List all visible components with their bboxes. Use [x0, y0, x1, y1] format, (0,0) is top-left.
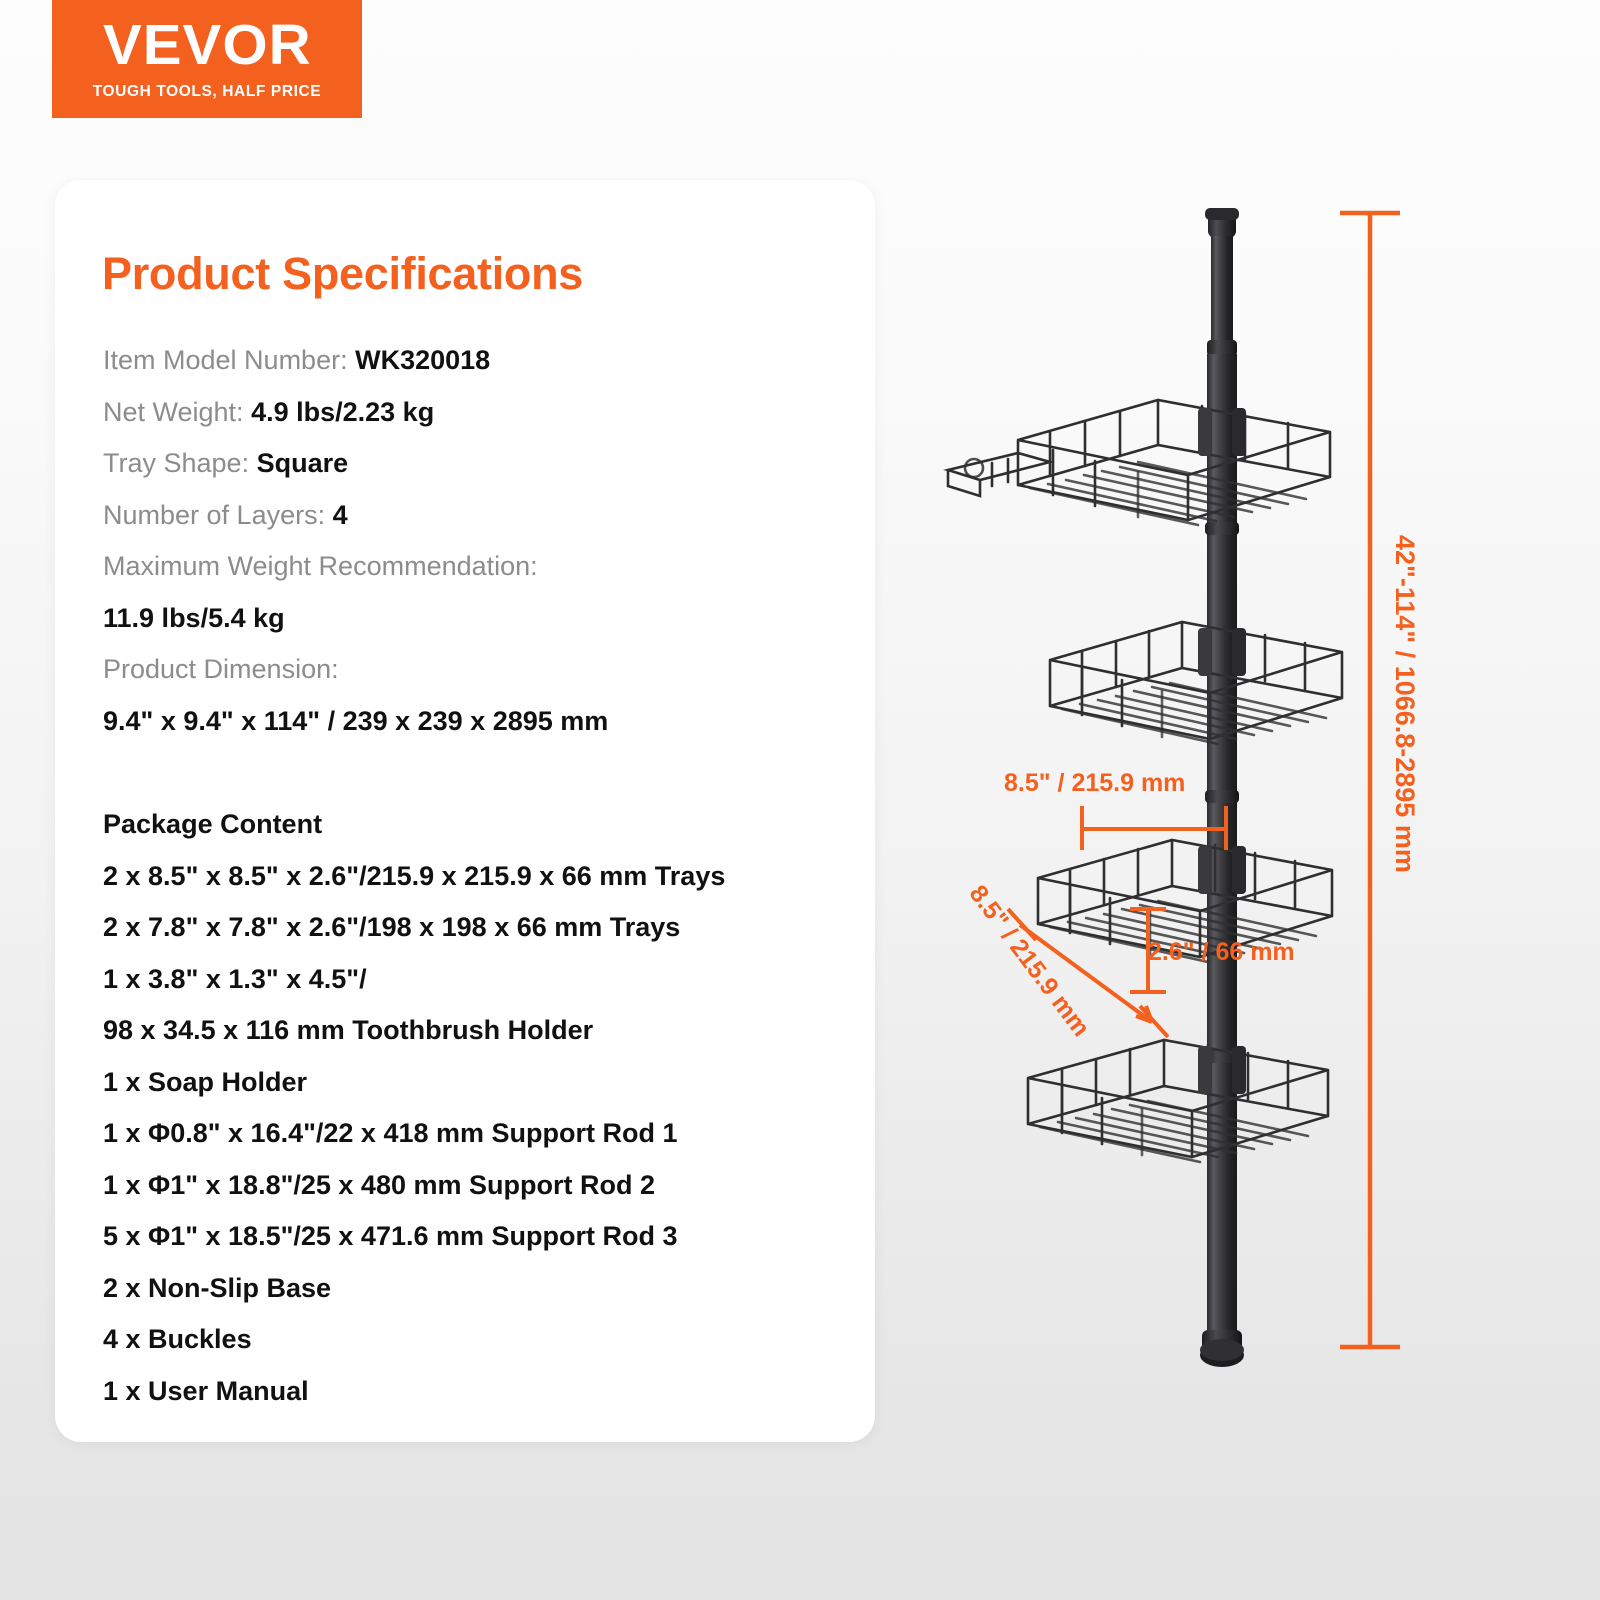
package-item: 2 x Non-Slip Base	[103, 1263, 855, 1315]
spec-list: Item Model Number: WK320018 Net Weight: …	[103, 335, 855, 1417]
spec-value: Square	[257, 448, 349, 478]
vevor-logo: VEVOR TOUGH TOOLS, HALF PRICE	[52, 0, 362, 118]
spec-label-max-weight: Maximum Weight Recommendation:	[103, 541, 855, 593]
product-specifications-card: Product Specifications Item Model Number…	[55, 180, 875, 1442]
spec-label-product-dimension: Product Dimension:	[103, 644, 855, 696]
brand-tagline: TOUGH TOOLS, HALF PRICE	[93, 83, 322, 101]
package-item: 2 x 8.5" x 8.5" x 2.6"/215.9 x 215.9 x 6…	[103, 851, 855, 903]
package-item: 4 x Buckles	[103, 1314, 855, 1366]
package-content-heading: Package Content	[103, 799, 855, 851]
spec-value: 4.9 lbs/2.23 kg	[251, 397, 434, 427]
dimension-label-width: 8.5" / 215.9 mm	[1004, 769, 1185, 798]
brand-wordmark: VEVOR	[103, 17, 312, 74]
spec-value-product-dimension: 9.4" x 9.4" x 114" / 239 x 239 x 2895 mm	[103, 696, 855, 748]
package-item: 1 x Φ0.8" x 16.4"/22 x 418 mm Support Ro…	[103, 1108, 855, 1160]
spec-label: Item Model Number:	[103, 345, 355, 375]
dimension-lines	[1008, 806, 1226, 1037]
package-item: 98 x 34.5 x 116 mm Toothbrush Holder	[103, 1005, 855, 1057]
basket-tier-1	[948, 400, 1330, 525]
section-spacer	[103, 747, 855, 799]
spec-value: 4	[333, 500, 348, 530]
package-item: 1 x Soap Holder	[103, 1057, 855, 1109]
spec-label: Net Weight:	[103, 397, 251, 427]
spec-value: WK320018	[355, 345, 490, 375]
spec-row-item-model-number: Item Model Number: WK320018	[103, 335, 855, 387]
spec-row-number-of-layers: Number of Layers: 4	[103, 490, 855, 542]
dimension-label-total-height: 42"-114" / 1066.8-2895 mm	[1389, 535, 1420, 873]
package-item: 1 x User Manual	[103, 1366, 855, 1418]
spec-label: Tray Shape:	[103, 448, 257, 478]
package-item: 2 x 7.8" x 7.8" x 2.6"/198 x 198 x 66 mm…	[103, 902, 855, 954]
package-item: 1 x 3.8" x 1.3" x 4.5"/	[103, 954, 855, 1006]
basket-tier-4	[1028, 1040, 1328, 1162]
page-title: Product Specifications	[102, 248, 583, 300]
spec-row-tray-shape: Tray Shape: Square	[103, 438, 855, 490]
spec-row-net-weight: Net Weight: 4.9 lbs/2.23 kg	[103, 387, 855, 439]
dimension-label-tray-height: 2.6" / 66 mm	[1148, 938, 1295, 967]
spec-value-max-weight: 11.9 lbs/5.4 kg	[103, 593, 855, 645]
package-item: 5 x Φ1" x 18.5"/25 x 471.6 mm Support Ro…	[103, 1211, 855, 1263]
basket-tier-2	[1050, 622, 1342, 744]
package-item: 1 x Φ1" x 18.8"/25 x 480 mm Support Rod …	[103, 1160, 855, 1212]
telescoping-pole	[1200, 208, 1244, 1367]
spec-label: Number of Layers:	[103, 500, 333, 530]
